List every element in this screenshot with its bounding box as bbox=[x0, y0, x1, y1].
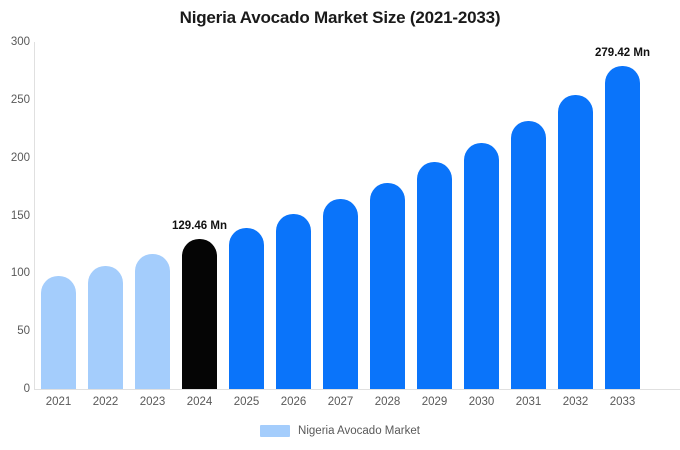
y-axis-tick-label: 50 bbox=[2, 325, 30, 337]
y-axis-tick-labels: 050100150200250300 bbox=[0, 0, 30, 450]
bar-2026[interactable] bbox=[276, 214, 311, 389]
bar-2027[interactable] bbox=[323, 199, 358, 389]
x-axis-tick-label-2029: 2029 bbox=[417, 396, 452, 408]
y-axis-tick-label: 300 bbox=[2, 36, 30, 48]
y-axis-tick-label: 200 bbox=[2, 152, 30, 164]
bar-2022[interactable] bbox=[88, 266, 123, 389]
x-axis-tick-label-2025: 2025 bbox=[229, 396, 264, 408]
bar-2025[interactable] bbox=[229, 228, 264, 389]
x-axis-tick-label-2027: 2027 bbox=[323, 396, 358, 408]
data-label-2033: 279.42 Mn bbox=[595, 47, 650, 59]
chart-legend: Nigeria Avocado Market bbox=[0, 425, 680, 437]
bar-2028[interactable] bbox=[370, 183, 405, 389]
x-axis-tick-label-2026: 2026 bbox=[276, 396, 311, 408]
x-axis-tick-label-2024: 2024 bbox=[182, 396, 217, 408]
x-axis-tick-label-2031: 2031 bbox=[511, 396, 546, 408]
x-axis-tick-label-2021: 2021 bbox=[41, 396, 76, 408]
bar-column[interactable] bbox=[605, 42, 640, 389]
bar-column[interactable] bbox=[323, 42, 358, 389]
y-axis-tick-label: 100 bbox=[2, 267, 30, 279]
data-label-2024: 129.46 Mn bbox=[172, 220, 227, 232]
bar-2023[interactable] bbox=[135, 254, 170, 389]
bar-column[interactable] bbox=[417, 42, 452, 389]
bar-column[interactable] bbox=[41, 42, 76, 389]
x-axis-tick-label-2030: 2030 bbox=[464, 396, 499, 408]
bar-column[interactable] bbox=[135, 42, 170, 389]
bar-2021[interactable] bbox=[41, 276, 76, 389]
y-axis-tick-label: 150 bbox=[2, 210, 30, 222]
bar-column[interactable] bbox=[511, 42, 546, 389]
bar-2032[interactable] bbox=[558, 95, 593, 389]
bar-chart: Nigeria Avocado Market Size (2021-2033) … bbox=[0, 0, 680, 450]
x-axis-tick-label-2033: 2033 bbox=[605, 396, 640, 408]
chart-title: Nigeria Avocado Market Size (2021-2033) bbox=[0, 8, 680, 28]
bar-2033[interactable] bbox=[605, 66, 640, 389]
x-axis-tick-label-2023: 2023 bbox=[135, 396, 170, 408]
bar-2031[interactable] bbox=[511, 121, 546, 389]
y-axis-tick-label: 0 bbox=[2, 383, 30, 395]
x-axis-line bbox=[34, 389, 680, 390]
x-axis-tick-label-2032: 2032 bbox=[558, 396, 593, 408]
bar-column[interactable] bbox=[182, 42, 217, 389]
bar-column[interactable] bbox=[88, 42, 123, 389]
plot-area bbox=[34, 42, 680, 389]
bar-2024[interactable] bbox=[182, 239, 217, 389]
y-axis-tick-label: 250 bbox=[2, 94, 30, 106]
legend-swatch-nigeria-avocado-market bbox=[260, 425, 290, 437]
bar-column[interactable] bbox=[370, 42, 405, 389]
bar-2029[interactable] bbox=[417, 162, 452, 389]
bar-column[interactable] bbox=[464, 42, 499, 389]
legend-label-nigeria-avocado-market: Nigeria Avocado Market bbox=[298, 425, 420, 437]
bar-2030[interactable] bbox=[464, 143, 499, 389]
x-axis-tick-label-2022: 2022 bbox=[88, 396, 123, 408]
bar-column[interactable] bbox=[558, 42, 593, 389]
bar-column[interactable] bbox=[276, 42, 311, 389]
x-axis-tick-label-2028: 2028 bbox=[370, 396, 405, 408]
bar-column[interactable] bbox=[229, 42, 264, 389]
